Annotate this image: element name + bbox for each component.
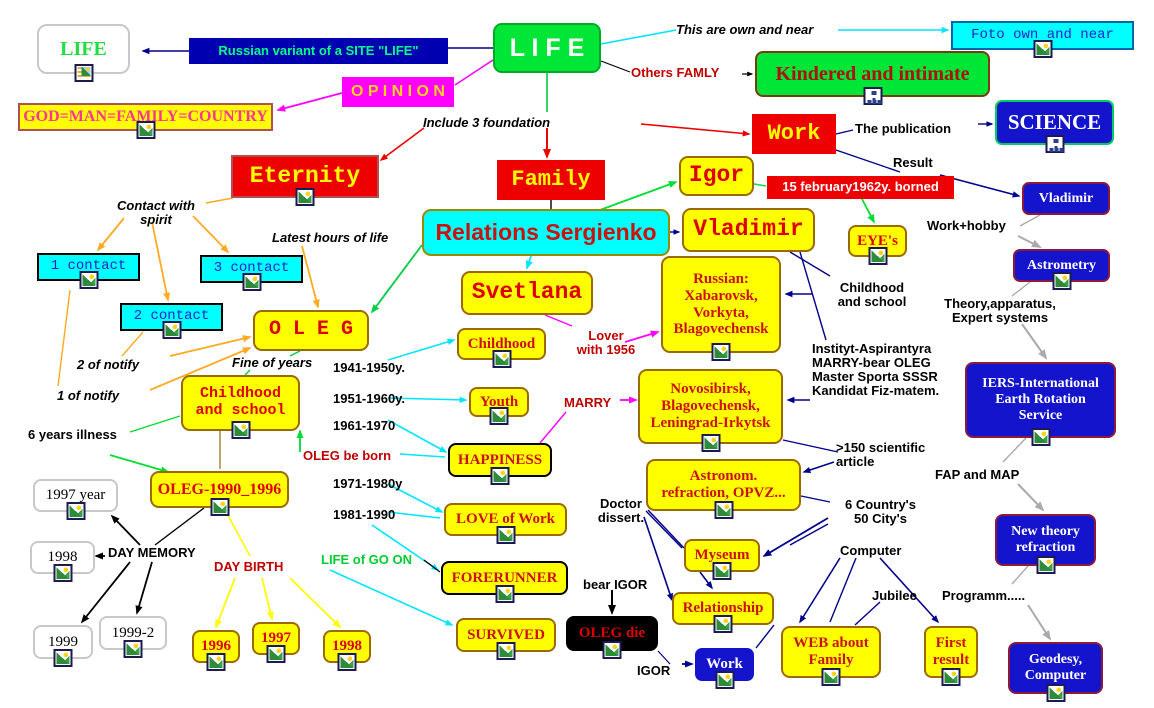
icon-glyph [299, 191, 312, 203]
node-relationship[interactable]: Relationship [672, 592, 774, 625]
picture-icon[interactable] [66, 502, 85, 520]
node-god-man[interactable]: GOD=MAN=FAMILY=COUNTRY [18, 103, 273, 131]
node-new-theory[interactable]: New theory refraction [995, 514, 1096, 566]
icon-glyph [866, 90, 879, 102]
edge-label-result: Result [893, 156, 948, 170]
node-label-novosibirsk: Novosibirsk, Blagovechensk, Leningrad-Ir… [640, 380, 781, 432]
edge-label-2-of-notify: 2 of notify [77, 358, 172, 372]
node-work-bottom[interactable]: Work [695, 648, 754, 681]
icon-glyph [717, 618, 730, 630]
node-survived[interactable]: SURVIVED [456, 618, 556, 652]
node-label-eternity: Eternity [233, 163, 377, 191]
edge-e-happiness-marry [540, 412, 566, 443]
edge-e-work-result [836, 150, 900, 172]
edge-e-include-eternity [381, 128, 424, 160]
node-label-oleg-1990-1996: OLEG-1990_1996 [152, 480, 287, 500]
edge-label-day-memory: DAY MEMORY [108, 546, 218, 560]
picture-icon[interactable] [1033, 40, 1052, 58]
edge-e-iers-fap [1003, 438, 1026, 462]
node-oleg-1990-1996[interactable]: OLEG-1990_1996 [150, 471, 289, 508]
edge-e-illness-oleg1990 [110, 455, 168, 472]
node-label-childhood-school: Childhood and school [183, 385, 298, 421]
node-youth[interactable]: Youth [469, 387, 529, 417]
picture-icon[interactable] [207, 653, 226, 671]
icon-glyph [825, 671, 838, 683]
node-label-astronom: Astronom. refraction, OPVZ... [648, 467, 799, 503]
edge-label-include-3-foundation: Include 3 foundation [423, 116, 638, 130]
edge-label-day-birth: DAY BIRTH [214, 560, 309, 574]
edge-e-astrometry-theory [1012, 282, 1030, 296]
icon-glyph [495, 353, 508, 365]
picture-icon[interactable] [822, 668, 841, 686]
edge-label-others-family: Others FAMLY [631, 66, 741, 80]
edge-e-relations-svetlana [527, 256, 531, 268]
node-contact-2[interactable]: 2 contact [120, 303, 223, 331]
edge-label-jubilee: Jubilee [872, 589, 932, 603]
node-opinion[interactable]: O P I N I O N [342, 77, 454, 107]
edge-e-1941-childhood [388, 340, 454, 360]
edge-e-svetlana-lover [545, 315, 572, 326]
edge-label-6-country-50-city: 6 Country's 50 City's [833, 498, 928, 526]
icon-glyph [500, 645, 513, 657]
node-y1998[interactable]: 1998 [323, 630, 371, 663]
icon-glyph [716, 565, 729, 577]
icon-glyph [715, 346, 728, 358]
edge-e-workhobby-astrometry [1018, 236, 1040, 247]
picture-icon[interactable] [1046, 684, 1065, 702]
node-year-1997[interactable]: 1997 year [33, 479, 118, 512]
edge-e-newtheory-programm [1012, 566, 1028, 584]
picture-icon[interactable] [1052, 272, 1071, 290]
picture-icon[interactable] [242, 273, 261, 291]
edge-e-igor-borned [754, 184, 766, 186]
edge-e-borned-eyes [862, 199, 874, 222]
node-russian-cities[interactable]: Russian: Xabarovsk, Vorkyta, Blagovechen… [661, 256, 781, 353]
edge-label-programm: Programm..... [942, 589, 1057, 603]
document-image-icon[interactable] [74, 64, 93, 82]
picture-icon[interactable] [497, 642, 516, 660]
edge-e-computer-web2 [830, 558, 856, 622]
edge-e-daymemory-1999-2 [137, 562, 152, 613]
edge-e-6country-myseum [764, 518, 828, 556]
node-contact-1[interactable]: 1 contact [37, 253, 140, 281]
node-y1996[interactable]: 1996 [192, 630, 240, 663]
icon-glyph [139, 124, 152, 136]
edge-label-1961-1970: 1961-1970 [333, 419, 428, 433]
node-borned[interactable]: 15 february1962y. borned [767, 176, 954, 199]
node-label-borned: 15 february1962y. borned [769, 179, 952, 196]
icon-glyph [341, 656, 354, 668]
edge-e-programm-geodesy [1028, 605, 1050, 639]
edge-label-1-of-notify: 1 of notify [57, 389, 152, 403]
picture-icon[interactable] [603, 641, 622, 659]
icon-glyph [165, 324, 178, 336]
picture-icon[interactable] [53, 564, 72, 582]
picture-icon[interactable] [210, 498, 229, 516]
edge-label-marry: MARRY [564, 396, 634, 410]
node-astronom[interactable]: Astronom. refraction, OPVZ... [646, 459, 801, 511]
node-love-of-work[interactable]: LOVE of Work [444, 503, 567, 536]
edge-label-instityt: Instityt-Aspirantyra MARRY-bear OLEG Mas… [812, 342, 977, 398]
edge-label-this-are-own-near: This are own and near [676, 23, 836, 37]
node-igor[interactable]: Igor [679, 156, 754, 196]
picture-icon[interactable] [124, 640, 143, 658]
icon-glyph [493, 410, 506, 422]
node-family[interactable]: Family [497, 160, 605, 200]
icon-glyph [704, 437, 717, 449]
picture-icon[interactable] [162, 321, 181, 339]
picture-icon[interactable] [942, 668, 961, 686]
icon-glyph [606, 644, 619, 656]
icon-glyph [871, 250, 884, 262]
edge-e-computer-web [800, 558, 840, 622]
picture-icon[interactable] [54, 649, 73, 667]
picture-icon[interactable] [492, 350, 511, 368]
icon-glyph [1048, 138, 1061, 150]
node-astrometry[interactable]: Astrometry [1013, 249, 1110, 282]
node-foto-own-near[interactable]: Foto own and near [951, 21, 1134, 50]
icon-glyph [245, 276, 258, 288]
node-science[interactable]: SCIENCE [995, 100, 1114, 145]
picture-icon[interactable] [495, 585, 514, 603]
node-svetlana[interactable]: Svetlana [461, 271, 593, 315]
mindmap-canvas: This are own and nearOthers FAMLYInclude… [0, 0, 1154, 708]
node-label-life-ru: LIFE [39, 37, 128, 61]
icon-glyph [498, 588, 511, 600]
icon-glyph [127, 643, 140, 655]
edge-e-include-work [641, 124, 749, 134]
icon-glyph [718, 674, 731, 686]
edge-label-6-years-illness: 6 years illness [28, 428, 143, 442]
edge-e-relationship-work [756, 625, 774, 648]
node-label-iers: IERS-International Earth Rotation Servic… [967, 375, 1114, 424]
edge-e-daybirth-1997 [262, 578, 272, 619]
edge-label-childhood-and-school-lbl: Childhood and school [822, 281, 922, 309]
node-y1999-2[interactable]: 1999-2 [99, 616, 167, 650]
node-oleg[interactable]: O L E G [253, 310, 369, 351]
node-label-web-about-family: WEB about Family [783, 634, 879, 670]
node-label-vladimir-blue: Vladimir [1024, 190, 1108, 208]
edge-e-2notify-oleg [170, 337, 250, 356]
icon-glyph [1036, 43, 1049, 55]
picture-icon[interactable] [136, 121, 155, 139]
node-label-relations: Relations Sergienko [424, 219, 668, 247]
edge-e-relations-oleg [372, 245, 422, 312]
node-vladimir-blue[interactable]: Vladimir [1022, 182, 1110, 215]
node-life-ru[interactable]: LIFE [37, 24, 130, 74]
picture-icon[interactable] [338, 653, 357, 671]
node-label-new-theory: New theory refraction [997, 523, 1094, 556]
node-iers[interactable]: IERS-International Earth Rotation Servic… [965, 362, 1116, 438]
edge-label-1971-1980: 1971-1980y [333, 477, 433, 491]
edge-e-theory-iers [1022, 324, 1046, 358]
node-label-science: SCIENCE [997, 110, 1112, 136]
edge-e-opinion-god [278, 93, 342, 110]
edge-e-6country-computer [790, 524, 828, 545]
node-life-main[interactable]: L I F E [493, 23, 601, 73]
node-label-kindered: Kindered and intimate [757, 62, 988, 86]
node-y1997[interactable]: 1997 [252, 622, 300, 655]
edge-label-bear-igor: bear IGOR [583, 578, 668, 592]
icon-glyph [1039, 559, 1052, 571]
picture-icon[interactable] [79, 271, 98, 289]
node-y1999[interactable]: 1999 [33, 625, 93, 659]
picture-icon[interactable] [713, 562, 732, 580]
icon-glyph [69, 505, 82, 517]
edge-label-life-of-go-on: LIFE of GO ON [321, 553, 441, 567]
node-y1998-plain[interactable]: 1998 [30, 541, 95, 574]
edge-e-latest-oleg [302, 246, 318, 307]
icon-glyph [56, 567, 69, 579]
edge-e-c1-1notify [58, 290, 70, 386]
edge-e-work-publication [836, 130, 853, 134]
edge-e-oleg1990-daymemory [155, 508, 204, 545]
node-label-first-result: First result [926, 634, 976, 670]
edge-e-myseum-relationship [700, 572, 712, 588]
node-russian-variant[interactable]: Russian variant of a SITE "LIFE" [189, 38, 448, 64]
picture-icon[interactable] [714, 615, 733, 633]
edge-e-daybirth-1998 [290, 578, 340, 627]
node-childhood-school[interactable]: Childhood and school [181, 375, 300, 431]
hierarchy-icon[interactable] [1045, 135, 1064, 153]
picture-icon[interactable] [868, 247, 887, 265]
icon-glyph [210, 656, 223, 668]
node-oleg-die[interactable]: OLEG die [566, 616, 658, 651]
edge-e-novo-150 [783, 440, 838, 452]
edge-e-relations-igor [600, 182, 676, 210]
hierarchy-icon[interactable] [863, 87, 882, 105]
node-label-svetlana: Svetlana [463, 279, 591, 307]
edge-e-jubilee-web [855, 602, 880, 625]
edge-label-fine-of-years: Fine of years [232, 356, 342, 370]
icon-glyph [1049, 687, 1062, 699]
icon-glyph [1034, 431, 1047, 443]
edge-label-contact-with-spirit: Contact with spirit [101, 199, 211, 227]
picture-icon[interactable] [715, 671, 734, 689]
node-work-top[interactable]: Work [752, 114, 836, 154]
edge-e-life-opinion [455, 60, 493, 85]
icon-glyph [57, 652, 70, 664]
node-kindered[interactable]: Kindered and intimate [755, 51, 990, 97]
icon-glyph [270, 648, 283, 660]
node-childhood-sv[interactable]: Childhood [457, 328, 546, 360]
edge-label-the-publication: The publication [855, 122, 975, 136]
icon-glyph [945, 671, 958, 683]
edge-label-computer: Computer [840, 544, 925, 558]
picture-icon[interactable] [267, 645, 286, 663]
picture-icon[interactable] [490, 407, 509, 425]
node-label-vladimir-yellow: Vladimir [684, 216, 813, 244]
picture-icon[interactable] [231, 421, 250, 439]
edge-e-astronom-6country [801, 496, 830, 502]
picture-icon[interactable] [1031, 428, 1050, 446]
icon-glyph [1055, 275, 1068, 287]
node-happiness[interactable]: HAPPINESS [448, 443, 552, 477]
node-first-result[interactable]: First result [924, 626, 978, 678]
edge-label-fap-and-map: FAP and MAP [935, 468, 1045, 482]
picture-icon[interactable] [296, 188, 315, 206]
node-web-about-family[interactable]: WEB about Family [781, 626, 881, 678]
node-myseum[interactable]: Myseum [684, 539, 760, 572]
picture-icon[interactable] [701, 434, 720, 452]
edge-e-daymemory-1997 [112, 516, 140, 545]
edge-label-igor-bottom: IGOR [637, 664, 685, 678]
picture-icon[interactable] [496, 526, 515, 544]
edge-label-1981-1990: 1981-1990 [333, 508, 428, 522]
edge-e-daybirth-1996 [216, 578, 235, 627]
node-contact-3[interactable]: 3 contact [200, 255, 303, 283]
node-label-geodesy: Geodesy, Computer [1010, 651, 1101, 684]
edge-label-1951-1960: 1951-1960y. [333, 392, 433, 406]
node-eyes[interactable]: EYE's [848, 225, 907, 257]
edge-label-lover-with-1956: Lover with 1956 [561, 329, 651, 357]
node-forerunner[interactable]: FORERUNNER [441, 561, 568, 595]
edge-e-lifego-survived [330, 570, 452, 625]
edge-label-150-scientific: >150 scientific article [836, 441, 946, 469]
picture-icon[interactable] [491, 467, 510, 485]
node-geodesy[interactable]: Geodesy, Computer [1008, 642, 1103, 694]
edge-label-latest-hours-of-life: Latest hours of life [272, 231, 422, 245]
node-label-work-top: Work [754, 121, 834, 148]
edge-e-spirit-c2 [152, 222, 168, 300]
edge-e-life-others [601, 61, 630, 72]
edge-e-life-cyan [601, 30, 676, 44]
picture-icon[interactable] [1036, 556, 1055, 574]
node-label-oleg: O L E G [255, 318, 367, 342]
icon-glyph [234, 424, 247, 436]
node-label-family: Family [499, 167, 603, 194]
edge-label-oleg-be-born: OLEG be born [303, 449, 413, 463]
edge-label-1941-1950: 1941-1950y. [333, 361, 433, 375]
icon-glyph [494, 470, 507, 482]
edge-e-c2-2notify [122, 332, 143, 356]
edge-label-theory-apparatus: Theory,apparatus, Expert systems [930, 297, 1070, 325]
node-eternity[interactable]: Eternity [231, 155, 379, 198]
edge-label-work-hobby: Work+hobby [927, 219, 1027, 233]
picture-icon[interactable] [714, 501, 733, 519]
node-relations[interactable]: Relations Sergienko [422, 209, 670, 256]
node-label-life-main: L I F E [495, 33, 599, 63]
icon-glyph [82, 274, 95, 286]
icon-glyph [499, 529, 512, 541]
icon-glyph [717, 504, 730, 516]
edge-e-150-astronom [804, 462, 834, 472]
node-label-igor: Igor [681, 162, 752, 190]
node-vladimir-yellow[interactable]: Vladimir [682, 208, 815, 252]
edge-e-fap-newtheory [1018, 484, 1043, 510]
picture-icon[interactable] [712, 343, 731, 361]
edge-e-vladimir-childlbl [790, 252, 830, 276]
node-label-russian-cities: Russian: Xabarovsk, Vorkyta, Blagovechen… [663, 270, 779, 339]
node-label-opinion: O P I N I O N [344, 82, 452, 102]
icon-glyph [213, 501, 226, 513]
node-novosibirsk[interactable]: Novosibirsk, Blagovechensk, Leningrad-Ir… [638, 369, 783, 444]
node-label-russian-variant: Russian variant of a SITE "LIFE" [191, 43, 446, 60]
icon-glyph [77, 67, 90, 79]
